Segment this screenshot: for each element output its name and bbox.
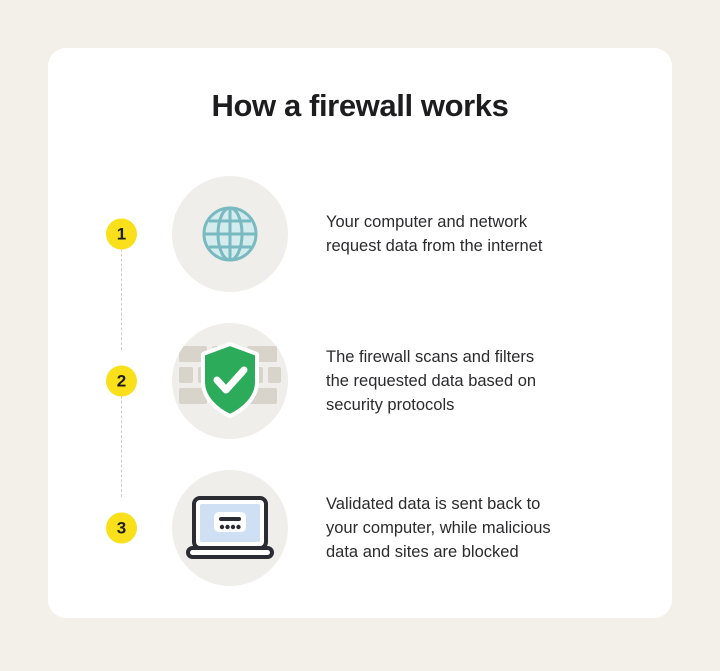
step-description-line: data and sites are blocked xyxy=(326,540,652,564)
step-icon-medallion xyxy=(172,470,288,586)
step-number-badge: 2 xyxy=(106,365,137,396)
dashed-connector xyxy=(121,234,122,350)
step-number-badge: 3 xyxy=(106,512,137,543)
steps-list: 1 Your compute xyxy=(48,160,672,601)
step-number-badge: 1 xyxy=(106,218,137,249)
laptop-icon xyxy=(184,492,276,564)
step-description-line: security protocols xyxy=(326,393,652,417)
step-description: Your computer and network request data f… xyxy=(288,210,672,258)
shield-check xyxy=(203,344,257,416)
step-rail: 3 xyxy=(48,454,172,601)
step-icon-medallion xyxy=(172,176,288,292)
page-title: How a firewall works xyxy=(48,88,672,124)
step-description-line: Validated data is sent back to xyxy=(326,492,652,516)
dashed-connector xyxy=(121,381,122,497)
step-description-line: Your computer and network xyxy=(326,210,652,234)
infographic-card: How a firewall works 1 xyxy=(48,48,672,618)
step-icon-medallion xyxy=(172,323,288,439)
step-rail: 1 xyxy=(48,160,172,307)
step-rail: 2 xyxy=(48,307,172,454)
step-description: Validated data is sent back to your comp… xyxy=(288,492,672,564)
step-description: The firewall scans and filters the reque… xyxy=(288,345,672,417)
step-row: 2 xyxy=(48,307,672,454)
step-description-line: your computer, while malicious xyxy=(326,516,652,540)
step-description-line: request data from the internet xyxy=(326,234,652,258)
step-row: 3 xyxy=(48,454,672,601)
step-description-line: the requested data based on xyxy=(326,369,652,393)
infographic-page: How a firewall works 1 xyxy=(0,0,720,671)
step-row: 1 Your compute xyxy=(48,160,672,307)
shield-check-brickwall-icon xyxy=(177,340,283,422)
globe-icon xyxy=(198,202,262,266)
step-description-line: The firewall scans and filters xyxy=(326,345,652,369)
